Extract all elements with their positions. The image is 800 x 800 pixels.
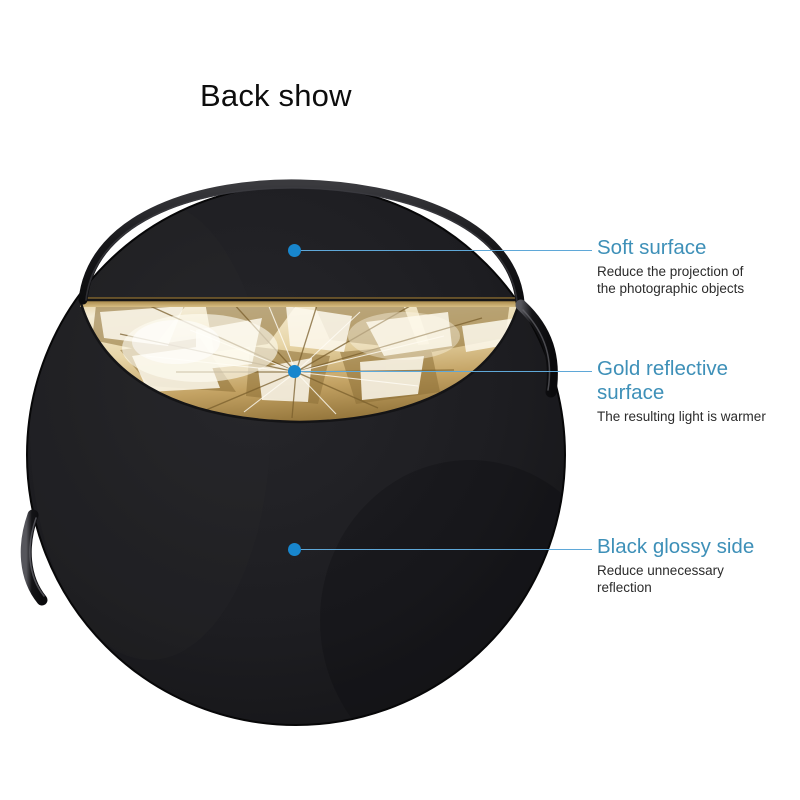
disc-body bbox=[27, 185, 620, 780]
callout-dot-icon-soft-surface bbox=[288, 244, 301, 257]
callout-heading-soft-surface: Soft surface bbox=[597, 236, 744, 260]
callout-subtitle-soft-surface: Reduce the projection of the photographi… bbox=[597, 264, 744, 297]
leader-line-gold-surface bbox=[299, 371, 592, 373]
callout-soft-surface: Soft surface Reduce the projection of th… bbox=[597, 236, 744, 297]
callout-heading-gold-reflective-surface: Gold reflective surface bbox=[597, 357, 766, 405]
product-illustration bbox=[0, 0, 620, 800]
callout-subtitle-gold-reflective-surface: The resulting light is warmer bbox=[597, 409, 766, 426]
callout-heading-black-glossy-side: Black glossy side bbox=[597, 535, 754, 559]
leader-line-black-side bbox=[299, 549, 592, 551]
callout-dot-icon-gold-surface bbox=[288, 365, 301, 378]
callout-black-glossy-side: Black glossy side Reduce unnecessary ref… bbox=[597, 535, 754, 596]
callout-gold-reflective-surface: Gold reflective surface The resulting li… bbox=[597, 357, 766, 426]
callout-dot-icon-black-side bbox=[288, 543, 301, 556]
infographic-canvas: Back show bbox=[0, 0, 800, 800]
callout-subtitle-black-glossy-side: Reduce unnecessary reflection bbox=[597, 563, 754, 596]
leader-line-soft-surface bbox=[299, 250, 592, 252]
